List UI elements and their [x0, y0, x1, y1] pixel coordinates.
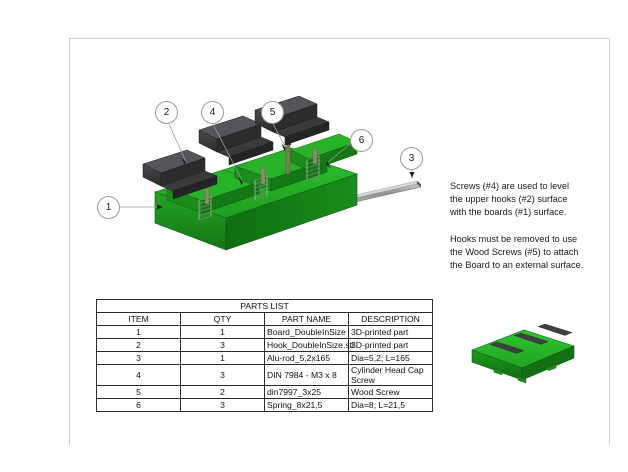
board-detail-view	[462, 322, 580, 392]
callout-balloon-5[interactable]: 5	[261, 101, 284, 124]
note-paragraph-hooks: Hooks must be removed to use the Wood Sc…	[450, 233, 602, 273]
parts-list-title: PARTS LIST	[97, 300, 433, 313]
cell-item: 3	[97, 352, 181, 365]
table-row[interactable]: 4 3 DIN 7984 - M3 x 8 Cylinder Head Cap …	[97, 365, 433, 386]
cell-part-name: Alu-rod_5,2x165	[265, 352, 349, 365]
cell-part-name: din7997_3x25	[265, 386, 349, 399]
callout-balloon-3[interactable]: 3	[400, 147, 423, 170]
cell-description: 3D-printed part	[349, 339, 433, 352]
cell-part-name: Hook_DoubleInSize.stl	[265, 339, 349, 352]
cell-qty: 3	[181, 365, 265, 386]
note-paragraph-screws: Screws (#4) are used to level the upper …	[450, 180, 602, 220]
table-row[interactable]: 3 1 Alu-rod_5,2x165 Dia=5,2; L=165	[97, 352, 433, 365]
callout-balloon-4[interactable]: 4	[201, 101, 224, 124]
table-row[interactable]: 5 2 din7997_3x25 Wood Screw	[97, 386, 433, 399]
callout-balloon-1[interactable]: 1	[97, 196, 120, 219]
cell-item: 2	[97, 339, 181, 352]
drawing-notes-block: Screws (#4) are used to level the upper …	[450, 180, 602, 285]
cell-part-name: DIN 7984 - M3 x 8	[265, 365, 349, 386]
column-header-item: ITEM	[97, 313, 181, 326]
table-row[interactable]: 6 3 Spring_8x21,5 Dia=8; L=21,5	[97, 399, 433, 412]
cell-item: 6	[97, 399, 181, 412]
cell-part-name: Board_DoubleInSize	[265, 326, 349, 339]
cell-description: 3D-printed part	[349, 326, 433, 339]
cell-item: 5	[97, 386, 181, 399]
column-header-description: DESCRIPTION	[349, 313, 433, 326]
cell-qty: 2	[181, 386, 265, 399]
parts-list-title-row: PARTS LIST	[97, 300, 433, 313]
parts-list-table: PARTS LIST ITEM QTY PART NAME DESCRIPTIO…	[96, 299, 433, 412]
table-row[interactable]: 1 1 Board_DoubleInSize 3D-printed part	[97, 326, 433, 339]
column-header-qty: QTY	[181, 313, 265, 326]
cell-description: Cylinder Head Cap Screw	[349, 365, 433, 386]
cell-description: Wood Screw	[349, 386, 433, 399]
callout-balloon-6[interactable]: 6	[350, 129, 373, 152]
cell-item: 1	[97, 326, 181, 339]
cell-description: Dia=8; L=21,5	[349, 399, 433, 412]
wood-screw-part	[285, 141, 291, 174]
cell-qty: 1	[181, 326, 265, 339]
parts-list-header-row: ITEM QTY PART NAME DESCRIPTION	[97, 313, 433, 326]
cell-item: 4	[97, 365, 181, 386]
callout-balloon-2[interactable]: 2	[155, 101, 178, 124]
cell-qty: 1	[181, 352, 265, 365]
cell-qty: 3	[181, 399, 265, 412]
cell-part-name: Spring_8x21,5	[265, 399, 349, 412]
column-header-part-name: PART NAME	[265, 313, 349, 326]
table-row[interactable]: 2 3 Hook_DoubleInSize.stl 3D-printed par…	[97, 339, 433, 352]
cell-description: Dia=5,2; L=165	[349, 352, 433, 365]
cell-qty: 3	[181, 339, 265, 352]
